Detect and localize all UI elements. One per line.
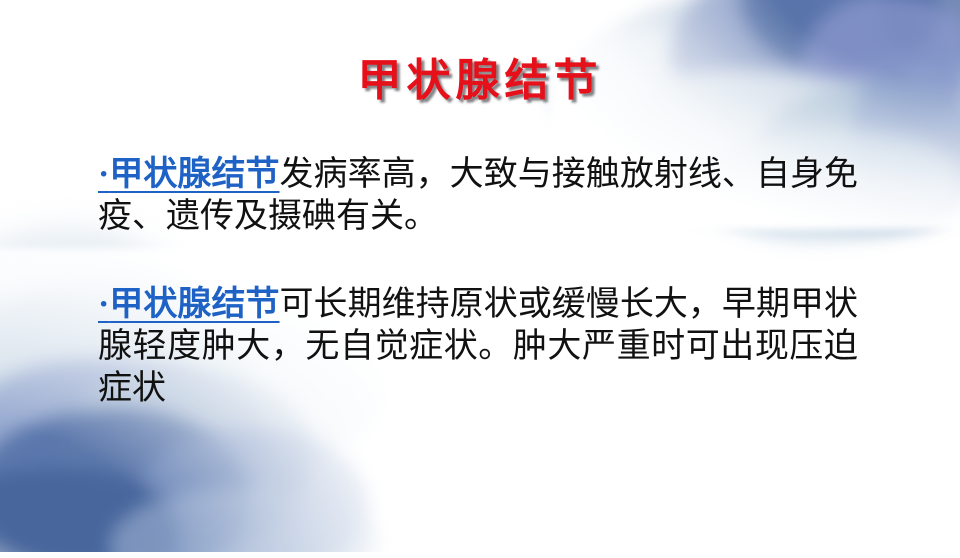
presentation-slide: 甲状腺结节 ·甲状腺结节发病率高，大致与接触放射线、自身免疫、遗传及摄碘有关。 … [0,0,960,558]
slide-title: 甲状腺结节 [0,44,960,108]
slide-content: 甲状腺结节 ·甲状腺结节发病率高，大致与接触放射线、自身免疫、遗传及摄碘有关。 … [0,0,960,558]
paragraph-1-lead-term: 甲状腺结节 [109,156,279,193]
paragraph-1-bullet-and-lead: ·甲状腺结节 [98,156,280,193]
bullet-marker-2: · [98,286,109,323]
paragraph-2-bullet-and-lead: ·甲状腺结节 [98,286,280,323]
bullet-marker-1: · [98,156,109,193]
paragraph-2-lead-term: 甲状腺结节 [109,286,279,323]
bullet-paragraph-1: ·甲状腺结节发病率高，大致与接触放射线、自身免疫、遗传及摄碘有关。 [98,154,858,238]
bullet-paragraph-2: ·甲状腺结节可长期维持原状或缓慢长大，早期甲状腺轻度肿大，无自觉症状。肿大严重时… [98,284,858,410]
